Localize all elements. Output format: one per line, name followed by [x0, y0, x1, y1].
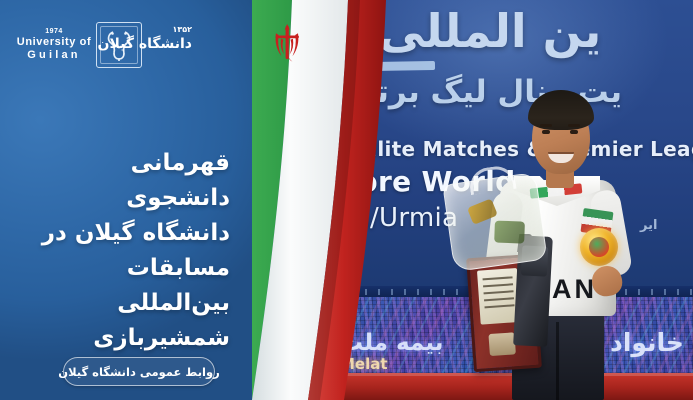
page-title: قهرمانی دانشجوی دانشگاه گیلان در مسابقات…: [34, 146, 230, 356]
logo-english-year: 1974: [16, 28, 92, 36]
athlete-hair: [528, 90, 594, 130]
university-of-guilan-logo[interactable]: 1974 University of Guilan ۱۳۵۲ دانشگاه گ…: [16, 22, 192, 68]
logo-english-block: 1974 University of Guilan: [16, 28, 92, 62]
news-banner: ین المللی یت و‌‌نال لیگ برتر Satellite M…: [0, 0, 693, 400]
gift-bag-handle: [468, 164, 517, 195]
athlete-eye: [542, 130, 550, 134]
gift-bag-item: [467, 198, 498, 224]
logo-english-line1: University of: [16, 36, 92, 49]
logo-english-line2: Guilan: [16, 49, 92, 62]
gift-bag-item: [494, 221, 525, 244]
backdrop-persian-line1: ین المللی: [300, 4, 680, 58]
led-english-text: Melat: [340, 355, 388, 373]
logo-persian-name: دانشگاه گیلان: [142, 35, 192, 53]
logo-persian-year: ۱۳۵۲: [142, 24, 192, 35]
backdrop-english-line3: Iran/Urmia: [318, 203, 458, 233]
public-relations-badge-label: روابط عمومی دانشگاه گیلان: [58, 365, 219, 379]
left-info-panel: 1974 University of Guilan ۱۳۵۲ دانشگاه گ…: [0, 0, 252, 400]
gold-medal-icon: [580, 228, 618, 266]
led-persian-text: بیمه ملت: [340, 330, 443, 356]
logo-persian-block: ۱۳۵۲ دانشگاه گیلان: [142, 24, 192, 53]
plaque-emblem-icon: [488, 332, 515, 356]
gift-bag: [442, 172, 547, 272]
athlete-eyebrow: [568, 124, 580, 127]
athlete-eye: [570, 130, 578, 134]
athlete-eyebrow: [540, 124, 552, 127]
athlete-figure: IRAN: [470, 60, 650, 400]
public-relations-badge[interactable]: روابط عمومی دانشگاه گیلان: [63, 357, 215, 386]
